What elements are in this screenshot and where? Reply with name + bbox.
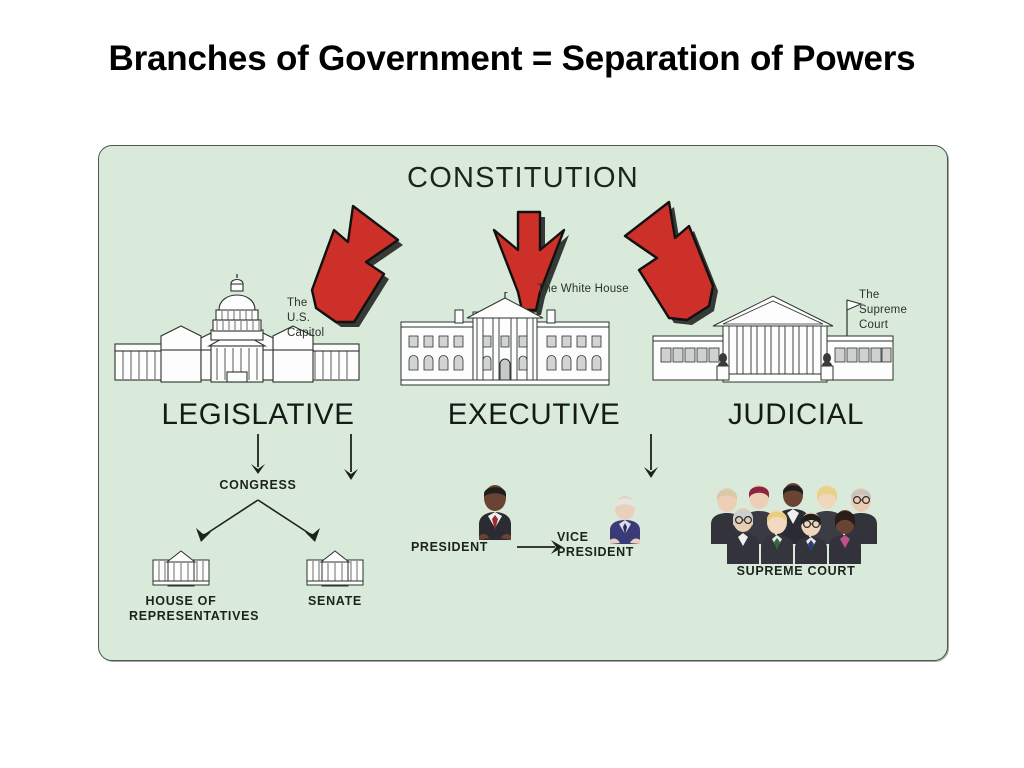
branch-executive: The White House EXECUTIVE PRESIDE [389, 274, 679, 588]
connector-congress-split-icon [178, 498, 338, 546]
slide-canvas: Branches of Government = Separation of P… [0, 0, 1024, 768]
capitol-label: The U.S. Capitol [287, 296, 324, 342]
senate-label: SENATE [283, 594, 387, 610]
senate-icon [305, 548, 365, 590]
executive-officers: PRESIDENT VICE PRESIDENT [389, 484, 679, 588]
connector-legislative-to-congress-icon [250, 434, 266, 478]
white-house-label: The White House [537, 282, 629, 297]
constitution-heading: CONSTITUTION [99, 162, 947, 195]
page-title: Branches of Government = Separation of P… [96, 38, 928, 79]
supreme-court-justices-icon [703, 482, 889, 566]
connector-judicial-to-court-icon [643, 434, 659, 482]
congress-chambers: HOUSE OF REPRESENTATIVES [113, 548, 403, 625]
white-house-icon [399, 292, 611, 392]
supreme-court-label: SUPREME COURT [651, 564, 941, 578]
house-of-representatives-icon [151, 548, 211, 590]
chamber-house: HOUSE OF REPRESENTATIVES [129, 548, 233, 625]
vice-president-label: VICE PRESIDENT [557, 530, 634, 560]
supreme-court-justices-group: SUPREME COURT [651, 482, 941, 586]
congress-label: CONGRESS [113, 478, 403, 494]
branch-legislative: The U.S. Capitol LEGISLATIVE CONGRESS [113, 274, 403, 625]
president-icon [471, 484, 519, 540]
supreme-court-building-group: The Supreme Court [651, 274, 941, 392]
house-label: HOUSE OF REPRESENTATIVES [129, 594, 233, 625]
branch-label-executive: EXECUTIVE [389, 398, 679, 432]
connector-executive-to-president-icon [343, 434, 359, 484]
branch-judicial: The Supreme Court JUDICIAL [651, 274, 941, 586]
white-house-building-group: The White House [389, 274, 679, 392]
chamber-senate: SENATE [283, 548, 387, 625]
branch-label-legislative: LEGISLATIVE [113, 398, 403, 432]
capitol-building-group: The U.S. Capitol [113, 274, 403, 392]
supreme-court-building-label: The Supreme Court [859, 288, 907, 334]
branch-label-judicial: JUDICIAL [651, 398, 941, 432]
president-label: PRESIDENT [411, 540, 488, 555]
diagram-panel: CONSTITUTION [98, 145, 948, 661]
